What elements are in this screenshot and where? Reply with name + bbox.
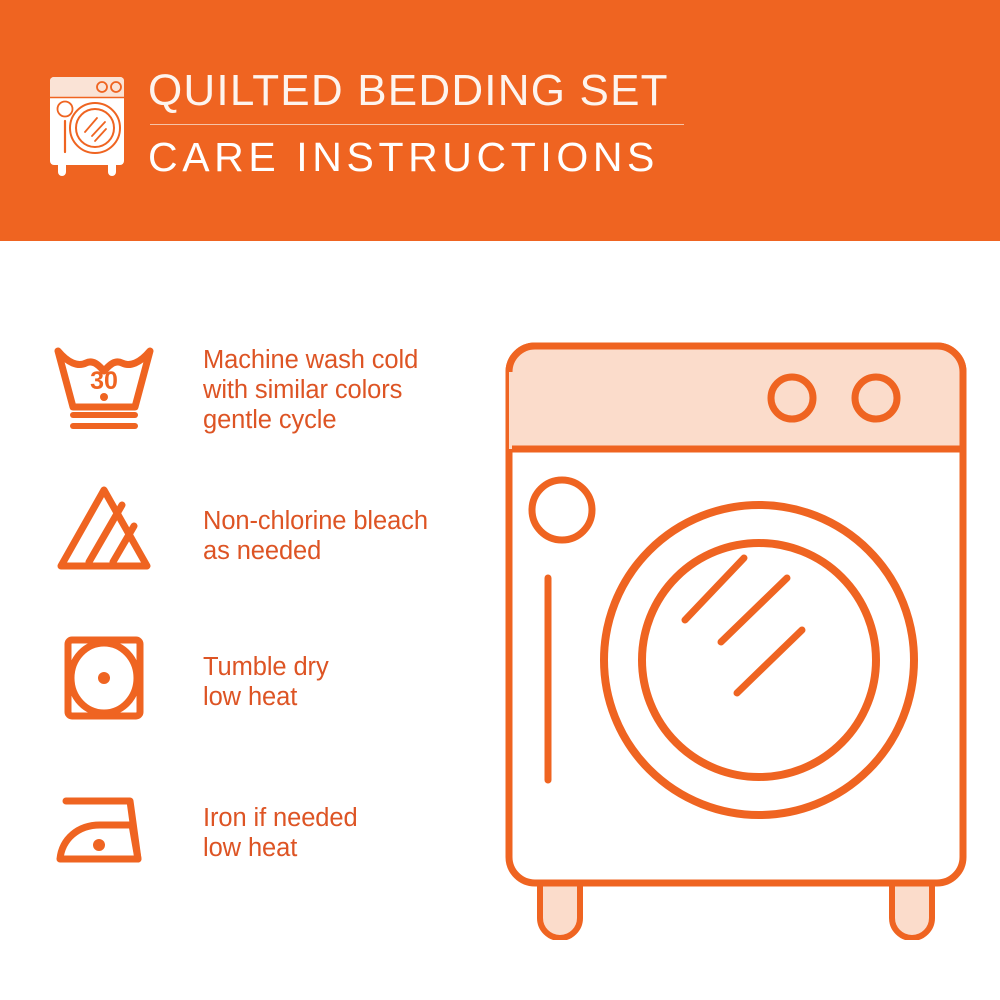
care-line: gentle cycle (203, 405, 418, 435)
care-row-bleach: Non-chlorine bleach as needed (0, 482, 500, 574)
care-text-tumble-dry: Tumble dry low heat (203, 652, 329, 712)
care-instructions-list: 30 Machine wash cold with similar colors… (0, 241, 500, 1000)
wash-temperature-label: 30 (90, 367, 118, 395)
care-text-bleach: Non-chlorine bleach as needed (203, 506, 428, 566)
care-text-machine-wash: Machine wash cold with similar colors ge… (203, 345, 418, 435)
care-row-tumble-dry: Tumble dry low heat (0, 632, 500, 724)
wash-basin-30-gentle-icon: 30 (48, 341, 160, 433)
header-title-group: QUILTED BEDDING SET CARE INSTRUCTIONS (148, 66, 708, 180)
care-line: Iron if needed (203, 803, 358, 833)
care-text-iron: Iron if needed low heat (203, 803, 358, 863)
front-load-washing-machine-illustration (494, 330, 974, 940)
care-line: Tumble dry (203, 652, 329, 682)
care-line: as needed (203, 536, 428, 566)
care-row-machine-wash: 30 Machine wash cold with similar colors… (0, 341, 500, 435)
care-line: Machine wash cold (203, 345, 418, 375)
non-chlorine-bleach-triangle-icon (48, 482, 160, 574)
tumble-dry-low-heat-icon (48, 632, 160, 724)
care-line: low heat (203, 833, 358, 863)
page-subtitle: CARE INSTRUCTIONS (148, 134, 708, 180)
care-line: Non-chlorine bleach (203, 506, 428, 536)
header-banner: QUILTED BEDDING SET CARE INSTRUCTIONS (0, 0, 1000, 241)
page-title: QUILTED BEDDING SET (148, 66, 708, 116)
washing-machine-icon (45, 72, 137, 176)
care-line: with similar colors (203, 375, 418, 405)
care-row-iron: Iron if needed low heat (0, 781, 500, 873)
title-divider (150, 124, 684, 125)
iron-low-heat-icon (48, 781, 160, 873)
care-instructions-page: QUILTED BEDDING SET CARE INSTRUCTIONS 30 (0, 0, 1000, 1000)
care-line: low heat (203, 682, 329, 712)
